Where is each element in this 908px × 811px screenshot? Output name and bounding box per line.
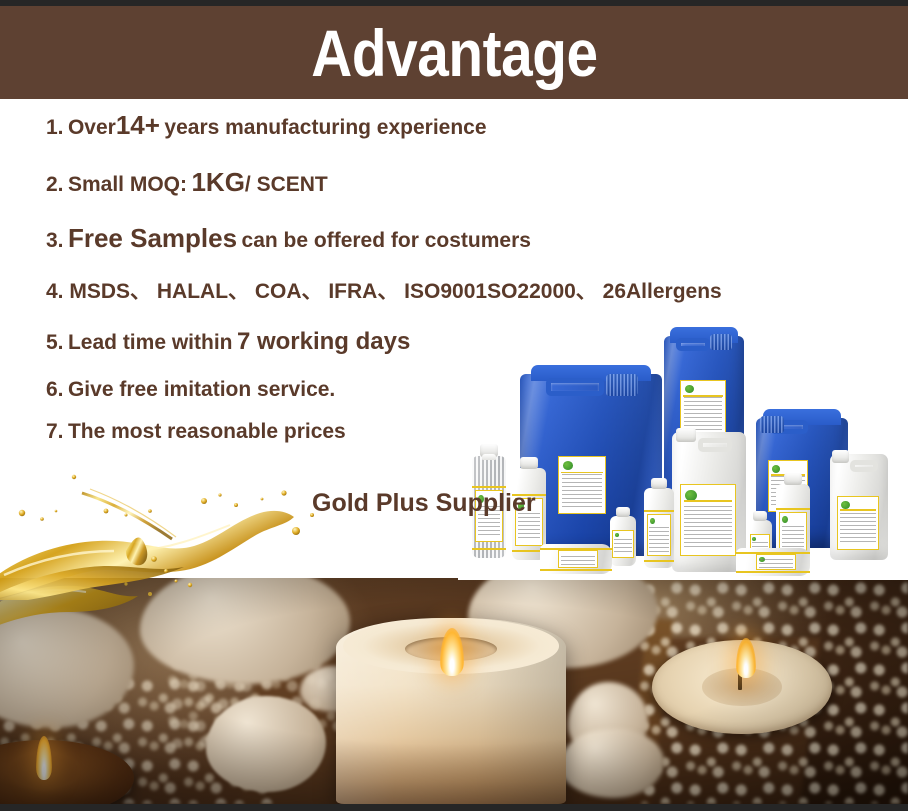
list-item: 3. Free Samples can be offered for costu… xyxy=(46,225,846,251)
white-bottle-lying-1 xyxy=(540,544,612,574)
list-item-number: 1. xyxy=(46,116,64,139)
list-item-number: 6. xyxy=(46,378,64,401)
product-label xyxy=(558,456,606,514)
bottom-divider-rule xyxy=(0,804,908,811)
list-item-text: Lead time within xyxy=(68,331,233,354)
label-logo-icon xyxy=(841,501,850,509)
list-item-emphasis: Free Samples xyxy=(68,223,237,253)
label-text-lines xyxy=(614,539,632,555)
list-item-text-tail: / SCENT xyxy=(245,173,328,196)
list-item-text: Small MOQ: xyxy=(68,173,187,196)
list-item-number: 2. xyxy=(46,173,64,196)
product-label xyxy=(612,530,634,558)
label-text-lines xyxy=(759,559,792,568)
list-item: 5. Lead time within 7 working days xyxy=(46,330,846,354)
label-logo-icon xyxy=(772,465,780,473)
label-logo-icon xyxy=(782,516,788,523)
list-item-number: 5. xyxy=(46,331,64,354)
jug-cap xyxy=(832,450,849,463)
label-text-lines xyxy=(562,474,603,509)
bottle-cap xyxy=(784,473,802,485)
list-item: 4. MSDS、 HALAL、 COA、 IFRA、 ISO9001SO2200… xyxy=(46,281,846,302)
product-label xyxy=(837,496,879,550)
list-item-number: 3. xyxy=(46,229,64,252)
product-label xyxy=(647,514,671,556)
label-logo-icon xyxy=(563,461,573,470)
advantage-list: 1. Over14+ years manufacturing experienc… xyxy=(46,112,846,442)
gold-plus-supplier-text: Gold Plus Supplier xyxy=(312,491,536,516)
advantage-banner-page: Advantage 1. Over14+ years manufacturing… xyxy=(0,0,908,811)
bottle-neck xyxy=(482,454,496,460)
list-item: 2. Small MOQ: 1KG/ SCENT xyxy=(46,169,846,195)
white-bottle-lying-2 xyxy=(736,548,810,576)
label-text-lines xyxy=(561,556,594,566)
bottle-cap xyxy=(520,457,538,469)
list-item: 6. Give free imitation service. xyxy=(46,379,846,400)
list-item-text-tail: years manufacturing experience xyxy=(164,116,486,139)
list-item-text: Give free imitation service. xyxy=(68,378,335,401)
white-jug-right xyxy=(830,454,888,560)
list-item-text: The most reasonable prices xyxy=(68,420,346,443)
label-logo-icon xyxy=(752,537,756,541)
list-item-emphasis: 1KG xyxy=(191,167,244,197)
bottle-cap xyxy=(651,478,667,489)
product-label xyxy=(680,484,736,556)
photo-vignette xyxy=(0,578,908,804)
candle-photo xyxy=(0,578,908,804)
label-logo-icon xyxy=(685,490,697,501)
list-item-text: can be offered for costumers xyxy=(242,229,531,252)
white-bottle-small xyxy=(610,516,636,566)
product-label xyxy=(756,554,796,570)
label-logo-icon xyxy=(615,533,619,537)
list-item-text: MSDS、 HALAL、 COA、 IFRA、 ISO9001SO22000、 … xyxy=(69,280,721,303)
page-title: Advantage xyxy=(311,20,597,86)
white-bottle-2 xyxy=(644,488,674,568)
list-item: 1. Over14+ years manufacturing experienc… xyxy=(46,112,846,138)
list-item-emphasis: 7 working days xyxy=(237,328,410,355)
label-text-lines xyxy=(684,506,732,549)
list-item-emphasis: 14+ xyxy=(116,110,160,140)
list-item-text: Over xyxy=(68,116,116,139)
list-item-number: 7. xyxy=(46,420,64,443)
label-text-lines xyxy=(840,513,875,545)
list-item: 7. The most reasonable prices xyxy=(46,421,846,442)
jug-handle xyxy=(850,460,878,472)
white-jug-center xyxy=(672,432,746,572)
bottle-cap xyxy=(616,507,630,517)
label-text-lines xyxy=(649,527,668,552)
bottle-cap xyxy=(753,511,767,521)
header-banner: Advantage xyxy=(0,6,908,99)
label-logo-icon xyxy=(650,518,655,524)
label-text-lines xyxy=(518,513,541,542)
list-item-number: 4. xyxy=(46,280,64,303)
product-label xyxy=(558,550,598,568)
